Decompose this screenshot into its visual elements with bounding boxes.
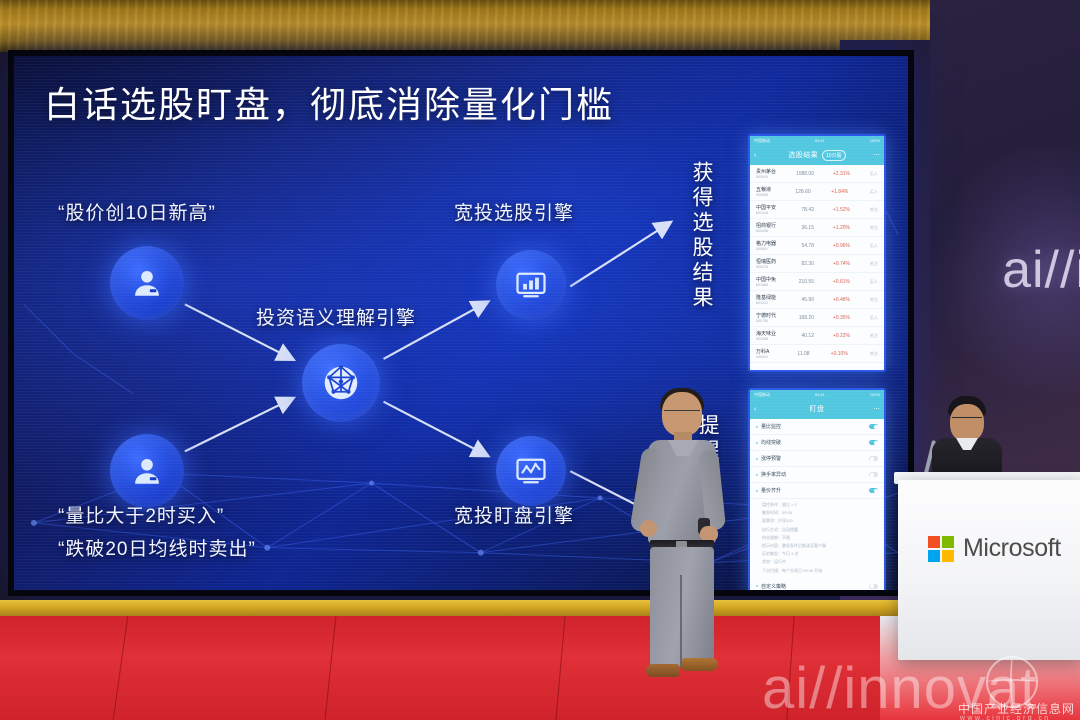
chevron-left-icon[interactable]: ‹ — [754, 152, 756, 159]
rule-toggle[interactable] — [869, 456, 878, 461]
rule-label: 涨停预警 — [761, 455, 781, 462]
stock-price: 45.90 — [788, 297, 814, 303]
stock-change: +0.74% — [826, 261, 850, 267]
stock-price: 54.78 — [788, 243, 814, 249]
stock-row[interactable]: 五粮液000858128.60+1.84%买入 — [750, 183, 884, 201]
stock-identity: 招商银行600036 — [756, 222, 776, 233]
stock-price: 210.55 — [788, 279, 814, 285]
stock-price: 128.60 — [785, 189, 811, 195]
stock-row[interactable]: 隆基绿能60101245.90+0.48%关注 — [750, 291, 884, 309]
stock-code: 600036 — [756, 229, 776, 233]
stock-code: 601888 — [756, 283, 776, 287]
dots-icon[interactable]: ⋯ — [873, 151, 880, 159]
seated-person — [930, 396, 1004, 482]
status-battery: 100% — [870, 392, 880, 397]
bullet-icon — [756, 442, 758, 444]
stock-change: +1.20% — [826, 225, 850, 231]
rule-toggle[interactable] — [869, 472, 878, 477]
rule-label: 均线突破 — [761, 439, 781, 446]
rule-detail-line: 下次扫描：每个交易日 09:30 开始 — [762, 568, 872, 574]
stock-name: 五粮液 — [756, 186, 771, 193]
person-icon — [130, 454, 164, 488]
stock-tag: 关注 — [862, 333, 878, 339]
stock-tag: 买入 — [862, 243, 878, 249]
label-query-top: “股价创10日新高” — [58, 198, 216, 225]
status-time: 09:41 — [815, 138, 825, 143]
phone-mockup-monitoring: 中国移动 09:41 100% ‹ 盯盘 ⋯ 量比监控均线突破涨停预警换手率异动… — [748, 388, 886, 590]
node-user-top[interactable] — [110, 246, 184, 320]
network-globe-icon — [321, 363, 361, 403]
rule-label-group: 均线突破 — [756, 439, 781, 446]
phone-title: 选股结果 — [788, 150, 818, 160]
rule-toggle[interactable] — [869, 584, 878, 589]
watermark-site-brand: 中国产业经济信息网 www.cinic.org.cn — [958, 660, 1076, 718]
stock-name: 海天味业 — [756, 330, 776, 337]
rule-label-group: 量比监控 — [756, 423, 781, 430]
stock-tag: 买入 — [862, 279, 878, 285]
bullet-icon — [756, 490, 758, 492]
stock-name: 中国平安 — [756, 204, 776, 211]
stock-identity: 隆基绿能601012 — [756, 294, 776, 305]
rule-label: 量比监控 — [761, 423, 781, 430]
stock-tag: 买入 — [862, 171, 878, 177]
phone-status-bar: 中国移动 09:41 100% — [750, 136, 884, 145]
stock-change: +0.96% — [826, 243, 850, 249]
rule-detail-line: 监控条件：量比 > 2 — [762, 502, 872, 508]
node-semantic-core[interactable] — [302, 344, 380, 422]
result-count-pill: 10只股 — [822, 150, 846, 161]
microsoft-logo: Microsoft — [928, 534, 1061, 563]
stock-row[interactable]: 贵州茅台6005191088.00+2.31%买入 — [750, 165, 884, 183]
stock-tag: 买入 — [862, 189, 878, 195]
stock-identity: 恒瑞医药600276 — [756, 258, 776, 269]
stock-code: 000858 — [756, 193, 771, 197]
stock-name: 格力电器 — [756, 240, 776, 247]
monitor-rule-row[interactable]: 涨停预警 — [750, 451, 884, 467]
stock-code: 000002 — [756, 355, 769, 359]
presentation-slide: 白话选股盯盘，彻底消除量化门槛 — [14, 56, 908, 590]
stock-name: 恒瑞医药 — [756, 258, 776, 265]
glasses-icon — [664, 410, 700, 416]
dots-icon[interactable]: ⋯ — [873, 405, 880, 413]
slide-title: 白话选股盯盘，彻底消除量化门槛 — [44, 76, 614, 128]
rule-detail-line: 触发时间：09:35 — [762, 510, 872, 516]
stock-identity: 宁德时代300750 — [756, 312, 776, 323]
stock-tag: 关注 — [862, 225, 878, 231]
presenter-right-shoe — [682, 658, 718, 671]
presenter-trousers — [650, 547, 714, 667]
rule-label-group: 量价齐升 — [756, 487, 781, 494]
bullet-icon — [756, 474, 758, 476]
stock-code: 300750 — [756, 319, 776, 323]
label-pick-engine: 宽投选股引擎 — [454, 198, 574, 225]
stock-row[interactable]: 格力电器00065154.78+0.96%买入 — [750, 237, 884, 255]
rule-detail-line: 持仓限制：不限 — [762, 535, 872, 541]
stock-change: +0.35% — [826, 315, 850, 321]
stock-name: 万科A — [756, 348, 769, 355]
label-query-bottom-2: “跌破20日均线时卖出” — [58, 534, 256, 561]
conference-stage-photo: ai//i — [0, 0, 1080, 720]
monitor-rule-list[interactable]: 量比监控均线突破涨停预警换手率异动量价齐升监控条件：量比 > 2触发时间：09:… — [750, 419, 884, 590]
stock-price: 78.42 — [788, 207, 814, 213]
phone-title: 盯盘 — [810, 404, 825, 414]
label-result-vertical: 获得选股结果 — [686, 161, 716, 311]
stock-code: 601318 — [756, 211, 776, 215]
stock-change: +0.48% — [826, 297, 850, 303]
stock-name: 隆基绿能 — [756, 294, 776, 301]
monitor-rule-row[interactable]: 量比监控 — [750, 419, 884, 435]
status-time: 09:41 — [815, 392, 825, 397]
stock-code: 603288 — [756, 337, 776, 341]
seated-person-head — [950, 404, 984, 442]
stock-change: +2.31% — [826, 171, 850, 177]
person-icon — [130, 266, 164, 300]
stock-result-list[interactable]: 贵州茅台6005191088.00+2.31%买入五粮液000858128.60… — [750, 165, 884, 370]
monitor-rule-row[interactable]: 自定义策略 — [750, 579, 884, 590]
rule-detail-line: 执行方式：自动提醒 — [762, 527, 872, 533]
stock-row[interactable]: 万科A00000211.08+0.10%关注 — [750, 345, 884, 363]
stock-row[interactable]: 宁德时代300750168.20+0.35%买入 — [750, 309, 884, 327]
stock-change: +0.10% — [824, 351, 848, 357]
stage-gold-trim — [0, 600, 920, 616]
monitor-rule-row[interactable]: 量价齐升 — [750, 483, 884, 499]
bullet-icon — [756, 585, 758, 587]
monitor-rule-row[interactable]: 均线突破 — [750, 435, 884, 451]
rule-toggle[interactable] — [869, 424, 878, 429]
stock-tag: 买入 — [862, 315, 878, 321]
stock-name: 贵州茅台 — [756, 168, 776, 175]
stock-code: 600276 — [756, 265, 776, 269]
rule-toggle[interactable] — [869, 488, 878, 493]
chevron-left-icon[interactable]: ‹ — [754, 406, 756, 413]
label-semantic-engine: 投资语义理解引擎 — [256, 303, 416, 330]
rule-detail-line: 提示内容：触发条件后推送至客户端 — [762, 543, 872, 549]
stock-code: 601012 — [756, 301, 776, 305]
rule-toggle[interactable] — [869, 440, 878, 445]
stock-change: +1.84% — [824, 189, 848, 195]
stock-identity: 万科A000002 — [756, 348, 769, 359]
stock-name: 招商银行 — [756, 222, 776, 229]
stock-tag: 关注 — [862, 351, 878, 357]
presenter-left-shoe — [646, 664, 680, 677]
bar-chart-monitor-icon — [513, 267, 549, 303]
stock-name: 宁德时代 — [756, 312, 776, 319]
stock-row[interactable]: 恒瑞医药60027682.30+0.74%关注 — [750, 255, 884, 273]
rule-detail-line: 状态：运行中 — [762, 559, 872, 565]
label-query-bottom-1: “量比大于2时买入” — [58, 501, 224, 528]
line-chart-monitor-icon — [513, 453, 549, 489]
phone-status-bar: 中国移动 09:41 100% — [750, 390, 884, 399]
stock-identity: 贵州茅台600519 — [756, 168, 776, 179]
stock-price: 168.20 — [788, 315, 814, 321]
watermark-site-url: www.cinic.org.cn — [960, 715, 1051, 720]
status-carrier: 中国移动 — [754, 138, 770, 144]
stock-price: 1088.00 — [788, 171, 814, 177]
phone-header: ‹ 选股结果 10只股 ⋯ — [750, 145, 884, 165]
rule-detail-line: 历史触发：今日 3 次 — [762, 551, 872, 557]
stock-identity: 海天味业603288 — [756, 330, 776, 341]
node-watch-engine[interactable] — [496, 436, 566, 506]
presenter-person — [628, 392, 728, 698]
stock-change: +0.22% — [826, 333, 850, 339]
stock-identity: 中国中免601888 — [756, 276, 776, 287]
rule-label: 自定义策略 — [761, 583, 786, 590]
gold-wall-backdrop — [0, 0, 940, 52]
glasses-icon — [952, 417, 982, 422]
stock-name: 中国中免 — [756, 276, 776, 283]
rule-label-group: 涨停预警 — [756, 455, 781, 462]
stock-price: 82.30 — [788, 261, 814, 267]
wall-ai-branding: ai//i — [1002, 240, 1080, 300]
podium — [898, 480, 1080, 660]
monitor-rule-row[interactable]: 换手率异动 — [750, 467, 884, 483]
rule-label: 量价齐升 — [761, 487, 781, 494]
microsoft-wordmark: Microsoft — [963, 534, 1061, 563]
led-screen: 白话选股盯盘，彻底消除量化门槛 — [8, 50, 914, 596]
phone-header: ‹ 盯盘 ⋯ — [750, 399, 884, 419]
microsoft-squares-icon — [928, 536, 954, 562]
stock-identity: 五粮液000858 — [756, 186, 771, 197]
stock-identity: 格力电器000651 — [756, 240, 776, 251]
rule-label-group: 自定义策略 — [756, 583, 786, 590]
stock-row[interactable]: 中国平安60131878.42+1.52%关注 — [750, 201, 884, 219]
bullet-icon — [756, 426, 758, 428]
stock-tag: 关注 — [862, 207, 878, 213]
stock-code: 000651 — [756, 247, 776, 251]
stock-code: 600519 — [756, 175, 776, 179]
stock-identity: 中国平安601318 — [756, 204, 776, 215]
rule-detail-block: 监控条件：量比 > 2触发时间：09:35股票池：沪深300执行方式：自动提醒持… — [750, 499, 884, 579]
presenter-left-hand — [640, 520, 657, 537]
stock-change: +0.61% — [826, 279, 850, 285]
stock-row[interactable]: 招商银行60003636.15+1.20%关注 — [750, 219, 884, 237]
rule-label-group: 换手率异动 — [756, 471, 786, 478]
stock-tag: 关注 — [862, 297, 878, 303]
stock-tag: 关注 — [862, 261, 878, 267]
node-user-bottom[interactable] — [110, 434, 184, 508]
label-watch-engine: 宽投盯盘引擎 — [454, 501, 574, 528]
node-pick-engine[interactable] — [496, 250, 566, 320]
stock-price: 36.15 — [788, 225, 814, 231]
stock-price: 11.08 — [784, 351, 810, 357]
status-carrier: 中国移动 — [754, 392, 770, 398]
stock-row[interactable]: 海天味业60328840.12+0.22%关注 — [750, 327, 884, 345]
bullet-icon — [756, 458, 758, 460]
rule-label: 换手率异动 — [761, 471, 786, 478]
phone-mockup-stock-results: 中国移动 09:41 100% ‹ 选股结果 10只股 ⋯ 贵州茅台600519… — [748, 134, 886, 372]
stock-row[interactable]: 中国中免601888210.55+0.61%买入 — [750, 273, 884, 291]
stock-price: 40.12 — [788, 333, 814, 339]
stock-change: +1.52% — [826, 207, 850, 213]
status-battery: 100% — [870, 138, 880, 143]
rule-detail-line: 股票池：沪深300 — [762, 518, 872, 524]
